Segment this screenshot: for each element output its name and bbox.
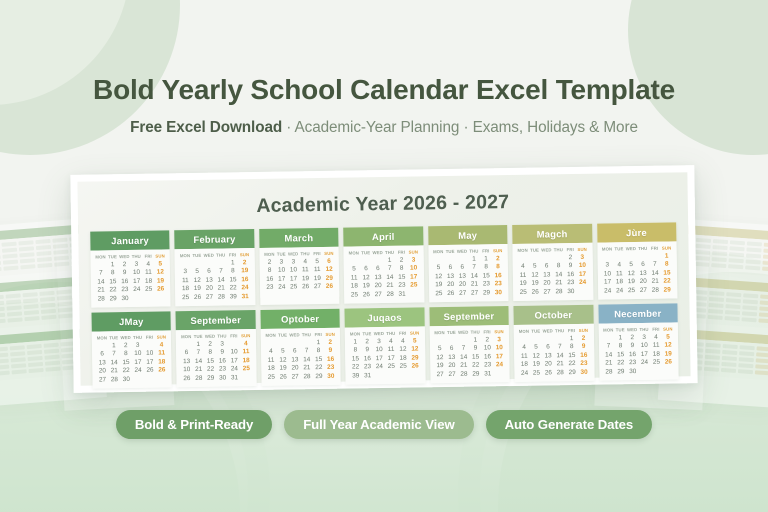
day-cell[interactable]: 1 bbox=[312, 338, 324, 345]
day-cell[interactable]: 9 bbox=[361, 346, 373, 353]
day-cell[interactable]: 29 bbox=[107, 295, 119, 302]
day-cell[interactable]: 13 bbox=[637, 269, 649, 276]
day-cell[interactable]: 6 bbox=[446, 345, 458, 352]
day-cell[interactable]: 4 bbox=[385, 337, 397, 344]
day-cell[interactable]: 14 bbox=[468, 272, 480, 279]
day-cell[interactable]: 2 bbox=[396, 256, 408, 263]
day-cell[interactable]: 3 bbox=[638, 333, 650, 340]
day-cell[interactable]: 23 bbox=[325, 364, 337, 371]
day-cell[interactable]: 26 bbox=[277, 373, 289, 380]
day-cell[interactable]: 4 bbox=[265, 348, 277, 355]
day-cell[interactable]: 15 bbox=[566, 351, 578, 358]
day-cell[interactable]: 3 bbox=[287, 258, 299, 265]
day-cell[interactable]: 30 bbox=[578, 368, 590, 375]
day-cell[interactable]: 10 bbox=[132, 350, 144, 357]
day-cell[interactable]: 20 bbox=[542, 360, 554, 367]
day-cell[interactable]: 18 bbox=[179, 285, 191, 292]
day-cell[interactable]: 24 bbox=[639, 359, 651, 366]
day-cell[interactable]: 29 bbox=[566, 368, 578, 375]
day-cell[interactable]: 5 bbox=[409, 337, 421, 344]
day-cell[interactable]: 28 bbox=[384, 290, 396, 297]
day-cell[interactable]: 13 bbox=[541, 271, 553, 278]
day-cell[interactable]: 28 bbox=[193, 374, 205, 381]
day-cell[interactable]: 11 bbox=[517, 271, 529, 278]
day-cell[interactable]: 8 bbox=[492, 263, 504, 270]
day-cell[interactable]: 15 bbox=[615, 351, 627, 358]
day-cell[interactable]: 3 bbox=[373, 337, 385, 344]
day-cell[interactable]: 7 bbox=[95, 269, 107, 276]
day-cell[interactable]: 39 bbox=[350, 372, 362, 379]
day-cell[interactable]: 31 bbox=[396, 290, 408, 297]
day-cell[interactable]: 22 bbox=[350, 363, 362, 370]
day-cell[interactable]: 14 bbox=[554, 352, 566, 359]
day-cell[interactable]: 26 bbox=[662, 358, 674, 365]
day-cell[interactable]: 13 bbox=[542, 352, 554, 359]
day-cell[interactable]: 4 bbox=[613, 261, 625, 268]
day-cell[interactable]: 17 bbox=[385, 354, 397, 361]
day-cell[interactable]: 23 bbox=[627, 359, 639, 366]
day-cell[interactable]: 1 bbox=[108, 342, 120, 349]
day-cell[interactable]: 10 bbox=[601, 270, 613, 277]
day-cell[interactable]: 21 bbox=[193, 366, 205, 373]
day-cell[interactable]: 27 bbox=[372, 290, 384, 297]
day-cell[interactable]: 23 bbox=[264, 284, 276, 291]
day-cell[interactable]: 14 bbox=[108, 359, 120, 366]
day-cell[interactable]: 1 bbox=[566, 334, 578, 341]
day-cell[interactable]: 25 bbox=[348, 291, 360, 298]
day-cell[interactable]: 23 bbox=[119, 286, 131, 293]
day-cell[interactable]: 19 bbox=[360, 282, 372, 289]
day-cell[interactable]: 11 bbox=[650, 342, 662, 349]
day-cell[interactable]: 14 bbox=[553, 271, 565, 278]
month-card[interactable]: OctoberMONTUEWEDTHUFRISUN124567891112131… bbox=[514, 305, 595, 382]
month-card[interactable]: JuqaosMONTUEWEDTHUFRISUN1234458910111212… bbox=[345, 307, 426, 384]
day-cell[interactable]: 5 bbox=[348, 265, 360, 272]
day-cell[interactable]: 1 bbox=[384, 256, 396, 263]
day-cell[interactable]: 23 bbox=[565, 279, 577, 286]
day-cell[interactable]: 6 bbox=[323, 257, 335, 264]
month-card[interactable]: SeptemberMONTUEWEDTHUFRISUN1235679101012… bbox=[429, 306, 510, 383]
day-cell[interactable]: 8 bbox=[614, 342, 626, 349]
day-cell[interactable]: 12 bbox=[529, 271, 541, 278]
day-cell[interactable]: 21 bbox=[603, 359, 615, 366]
day-cell[interactable]: 27 bbox=[434, 371, 446, 378]
day-cell[interactable]: 8 bbox=[227, 267, 239, 274]
day-cell[interactable]: 10 bbox=[181, 366, 193, 373]
day-cell[interactable]: 5 bbox=[529, 263, 541, 270]
day-cell[interactable]: 16 bbox=[119, 277, 131, 284]
day-cell[interactable]: 12 bbox=[154, 268, 166, 275]
day-cell[interactable]: 25 bbox=[517, 288, 529, 295]
day-cell[interactable]: 20 bbox=[637, 278, 649, 285]
day-cell[interactable]: 28 bbox=[215, 293, 227, 300]
day-cell[interactable]: 19 bbox=[433, 281, 445, 288]
day-cell[interactable]: 30 bbox=[119, 294, 131, 301]
day-cell[interactable]: 11 bbox=[613, 270, 625, 277]
day-cell[interactable]: 29 bbox=[615, 368, 627, 375]
day-cell[interactable]: 1 bbox=[107, 261, 119, 268]
day-cell[interactable]: 27 bbox=[457, 289, 469, 296]
day-cell[interactable]: 3 bbox=[132, 341, 144, 348]
month-card[interactable]: MagchMONTUEWEDTHUFRISUN23456891011121314… bbox=[512, 224, 593, 301]
day-cell[interactable]: 30 bbox=[565, 287, 577, 294]
day-cell[interactable]: 14 bbox=[603, 351, 615, 358]
day-cell[interactable]: 24 bbox=[373, 363, 385, 370]
day-cell[interactable]: 16 bbox=[325, 355, 337, 362]
day-cell[interactable]: 14 bbox=[95, 278, 107, 285]
day-cell[interactable]: 2 bbox=[361, 338, 373, 345]
day-cell[interactable]: 28 bbox=[95, 295, 107, 302]
day-cell[interactable]: 19 bbox=[662, 350, 674, 357]
day-cell[interactable]: 9 bbox=[469, 344, 481, 351]
day-cell[interactable]: 18 bbox=[143, 277, 155, 284]
day-cell[interactable]: 1 bbox=[661, 252, 673, 259]
day-cell[interactable]: 8 bbox=[553, 262, 565, 269]
day-cell[interactable]: 3 bbox=[179, 268, 191, 275]
day-cell[interactable]: 11 bbox=[348, 274, 360, 281]
day-cell[interactable]: 2 bbox=[626, 334, 638, 341]
month-card[interactable]: MarchMONTUEWEDTHUFRISUN23345681010111112… bbox=[259, 228, 340, 305]
day-cell[interactable]: 27 bbox=[637, 286, 649, 293]
feature-badge[interactable]: Bold & Print-Ready bbox=[116, 410, 272, 439]
day-cell[interactable]: 7 bbox=[554, 343, 566, 350]
day-cell[interactable]: 18 bbox=[518, 361, 530, 368]
month-card[interactable]: NecemberMONTUEWEDTHUFRISUN12345789101112… bbox=[598, 303, 679, 380]
day-cell[interactable]: 17 bbox=[288, 275, 300, 282]
day-cell[interactable]: 2 bbox=[120, 341, 132, 348]
day-cell[interactable]: 14 bbox=[384, 273, 396, 280]
day-cell[interactable]: 7 bbox=[649, 261, 661, 268]
day-cell[interactable]: 6 bbox=[289, 347, 301, 354]
day-cell[interactable]: 10 bbox=[131, 269, 143, 276]
day-cell[interactable]: 20 bbox=[541, 279, 553, 286]
day-cell[interactable]: 25 bbox=[433, 290, 445, 297]
day-cell[interactable]: 24 bbox=[276, 284, 288, 291]
day-cell[interactable]: 30 bbox=[325, 372, 337, 379]
day-cell[interactable]: 20 bbox=[446, 362, 458, 369]
day-cell[interactable]: 7 bbox=[603, 342, 615, 349]
day-cell[interactable]: 11 bbox=[179, 277, 191, 284]
day-cell[interactable]: 5 bbox=[662, 333, 674, 340]
day-cell[interactable]: 16 bbox=[481, 353, 493, 360]
day-cell[interactable]: 6 bbox=[542, 343, 554, 350]
day-cell[interactable]: 20 bbox=[203, 285, 215, 292]
day-cell[interactable]: 27 bbox=[96, 376, 108, 383]
day-cell[interactable]: 3 bbox=[576, 253, 588, 260]
day-cell[interactable]: 25 bbox=[288, 283, 300, 290]
day-cell[interactable]: 18 bbox=[348, 282, 360, 289]
day-cell[interactable]: 27 bbox=[289, 373, 301, 380]
month-card[interactable]: AprilMONTUEWEDTHUFRISUN12356678101112131… bbox=[343, 226, 424, 303]
day-cell[interactable]: 30 bbox=[492, 289, 504, 296]
day-cell[interactable]: 30 bbox=[627, 368, 639, 375]
day-cell[interactable]: 30 bbox=[217, 374, 229, 381]
day-cell[interactable]: 15 bbox=[480, 272, 492, 279]
day-cell[interactable]: 18 bbox=[613, 278, 625, 285]
day-cell[interactable]: 16 bbox=[216, 357, 228, 364]
day-cell[interactable]: 12 bbox=[397, 346, 409, 353]
day-cell[interactable]: 14 bbox=[193, 357, 205, 364]
day-cell[interactable]: 14 bbox=[215, 276, 227, 283]
day-cell[interactable]: 27 bbox=[312, 283, 324, 290]
month-card[interactable]: SeptemberMONTUEWEDTHUFRISUN1234678910111… bbox=[176, 310, 257, 387]
day-cell[interactable]: 18 bbox=[156, 358, 168, 365]
day-cell[interactable]: 27 bbox=[446, 370, 458, 377]
day-cell[interactable]: 21 bbox=[384, 282, 396, 289]
day-cell[interactable]: 23 bbox=[361, 363, 373, 370]
feature-badge[interactable]: Auto Generate Dates bbox=[486, 410, 653, 439]
day-cell[interactable]: 1 bbox=[480, 255, 492, 262]
day-cell[interactable]: 13 bbox=[444, 272, 456, 279]
day-cell[interactable]: 2 bbox=[564, 253, 576, 260]
day-cell[interactable]: 14 bbox=[649, 269, 661, 276]
month-card[interactable]: JMayMONTUEWEDTHUFRISUN123467810101113141… bbox=[91, 311, 172, 388]
day-cell[interactable]: 17 bbox=[132, 358, 144, 365]
day-cell[interactable]: 4 bbox=[240, 340, 252, 347]
day-cell[interactable]: 15 bbox=[470, 353, 482, 360]
day-cell[interactable]: 17 bbox=[577, 270, 589, 277]
day-cell[interactable]: 17 bbox=[131, 277, 143, 284]
day-cell[interactable]: 29 bbox=[313, 372, 325, 379]
day-cell[interactable]: 23 bbox=[578, 360, 590, 367]
day-cell[interactable]: 11 bbox=[311, 266, 323, 273]
day-cell[interactable]: 28 bbox=[649, 286, 661, 293]
day-cell[interactable]: 9 bbox=[578, 343, 590, 350]
day-cell[interactable]: 22 bbox=[615, 359, 627, 366]
day-cell[interactable]: 12 bbox=[409, 345, 421, 352]
day-cell[interactable]: 5 bbox=[625, 261, 637, 268]
day-cell[interactable]: 21 bbox=[649, 278, 661, 285]
day-cell[interactable]: 17 bbox=[602, 278, 614, 285]
day-cell[interactable]: 25 bbox=[143, 286, 155, 293]
day-cell[interactable]: 24 bbox=[577, 279, 589, 286]
day-cell[interactable]: 10 bbox=[144, 350, 156, 357]
day-cell[interactable]: 25 bbox=[180, 294, 192, 301]
day-cell[interactable]: 8 bbox=[120, 350, 132, 357]
day-cell[interactable]: 24 bbox=[494, 361, 506, 368]
day-cell[interactable]: 20 bbox=[457, 281, 469, 288]
day-cell[interactable]: 3 bbox=[130, 260, 142, 267]
day-cell[interactable]: 1 bbox=[468, 255, 480, 262]
day-cell[interactable]: 19 bbox=[434, 362, 446, 369]
day-cell[interactable]: 16 bbox=[239, 276, 251, 283]
day-cell[interactable]: 21 bbox=[468, 280, 480, 287]
day-cell[interactable]: 2 bbox=[204, 340, 216, 347]
day-cell[interactable]: 24 bbox=[602, 287, 614, 294]
day-cell[interactable]: 25 bbox=[385, 363, 397, 370]
day-cell[interactable]: 6 bbox=[444, 264, 456, 271]
day-cell[interactable]: 29 bbox=[470, 370, 482, 377]
day-cell[interactable]: 26 bbox=[360, 291, 372, 298]
day-cell[interactable]: 16 bbox=[361, 355, 373, 362]
day-cell[interactable]: 7 bbox=[384, 265, 396, 272]
day-cell[interactable]: 22 bbox=[470, 361, 482, 368]
day-cell[interactable]: 23 bbox=[396, 282, 408, 289]
day-cell[interactable]: 12 bbox=[662, 341, 674, 348]
day-cell[interactable]: 21 bbox=[458, 362, 470, 369]
day-cell[interactable]: 10 bbox=[576, 262, 588, 269]
day-cell[interactable]: 3 bbox=[275, 258, 287, 265]
day-cell[interactable]: 6 bbox=[203, 268, 215, 275]
month-card[interactable]: FebruaryMONTUEWEDTHUFRISUN12356781911121… bbox=[175, 229, 256, 306]
day-cell[interactable]: 8 bbox=[204, 349, 216, 356]
feature-badge[interactable]: Full Year Academic View bbox=[284, 410, 473, 439]
day-cell[interactable]: 16 bbox=[264, 275, 276, 282]
day-cell[interactable]: 17 bbox=[493, 353, 505, 360]
day-cell[interactable]: 12 bbox=[434, 354, 446, 361]
day-cell[interactable]: 11 bbox=[385, 346, 397, 353]
day-cell[interactable]: 10 bbox=[493, 344, 505, 351]
day-cell[interactable]: 29 bbox=[205, 374, 217, 381]
day-cell[interactable]: 9 bbox=[324, 347, 336, 354]
day-cell[interactable]: 11 bbox=[265, 356, 277, 363]
day-cell[interactable]: 28 bbox=[301, 373, 313, 380]
day-cell[interactable]: 26 bbox=[529, 288, 541, 295]
day-cell[interactable]: 26 bbox=[181, 375, 193, 382]
day-cell[interactable]: 25 bbox=[408, 281, 420, 288]
day-cell[interactable]: 19 bbox=[239, 267, 251, 274]
day-cell[interactable]: 29 bbox=[480, 289, 492, 296]
day-cell[interactable]: 16 bbox=[578, 351, 590, 358]
day-cell[interactable]: 20 bbox=[445, 281, 457, 288]
day-cell[interactable]: 19 bbox=[530, 361, 542, 368]
day-cell[interactable]: 4 bbox=[299, 258, 311, 265]
day-cell[interactable]: 14 bbox=[301, 356, 313, 363]
day-cell[interactable]: 15 bbox=[396, 273, 408, 280]
day-cell[interactable]: 21 bbox=[301, 364, 313, 371]
day-cell[interactable]: 8 bbox=[480, 263, 492, 270]
day-cell[interactable]: 6 bbox=[360, 265, 372, 272]
day-cell[interactable]: 17 bbox=[228, 357, 240, 364]
day-cell[interactable]: 12 bbox=[530, 352, 542, 359]
day-cell[interactable]: 9 bbox=[216, 348, 228, 355]
day-cell[interactable]: 28 bbox=[553, 288, 565, 295]
day-cell[interactable]: 25 bbox=[265, 373, 277, 380]
day-cell[interactable]: 13 bbox=[181, 358, 193, 365]
day-cell[interactable]: 30 bbox=[120, 375, 132, 382]
day-cell[interactable]: 7 bbox=[458, 345, 470, 352]
day-cell[interactable]: 29 bbox=[323, 274, 335, 281]
day-cell[interactable]: 15 bbox=[313, 355, 325, 362]
day-cell[interactable]: 28 bbox=[458, 370, 470, 377]
day-cell[interactable]: 20 bbox=[289, 364, 301, 371]
day-cell[interactable]: 1 bbox=[469, 336, 481, 343]
day-cell[interactable]: 31 bbox=[239, 293, 251, 300]
day-cell[interactable]: 11 bbox=[518, 352, 530, 359]
day-cell[interactable]: 28 bbox=[603, 368, 615, 375]
day-cell[interactable]: 13 bbox=[446, 353, 458, 360]
day-cell[interactable]: 15 bbox=[661, 269, 673, 276]
day-cell[interactable]: 17 bbox=[638, 350, 650, 357]
day-cell[interactable]: 18 bbox=[240, 357, 252, 364]
day-cell[interactable]: 13 bbox=[96, 359, 108, 366]
day-cell[interactable]: 2 bbox=[324, 338, 336, 345]
day-cell[interactable]: 15 bbox=[107, 278, 119, 285]
day-cell[interactable]: 19 bbox=[191, 285, 203, 292]
day-cell[interactable]: 39 bbox=[227, 293, 239, 300]
day-cell[interactable]: 26 bbox=[323, 283, 335, 290]
day-cell[interactable]: 19 bbox=[517, 280, 529, 287]
day-cell[interactable]: 3 bbox=[407, 256, 419, 263]
day-cell[interactable]: 17 bbox=[373, 354, 385, 361]
day-cell[interactable]: 25 bbox=[397, 363, 409, 370]
day-cell[interactable]: 2 bbox=[118, 260, 130, 267]
month-card[interactable]: MayMONTUEWEDTHUFRISUN1125667881213131415… bbox=[428, 225, 509, 302]
day-cell[interactable]: 10 bbox=[373, 346, 385, 353]
day-cell[interactable]: 19 bbox=[277, 365, 289, 372]
day-cell[interactable]: 12 bbox=[191, 276, 203, 283]
day-cell[interactable]: 25 bbox=[650, 359, 662, 366]
day-cell[interactable]: 4 bbox=[517, 263, 529, 270]
day-cell[interactable]: 27 bbox=[203, 293, 215, 300]
day-cell[interactable]: 26 bbox=[300, 283, 312, 290]
day-cell[interactable]: 26 bbox=[445, 289, 457, 296]
day-cell[interactable]: 26 bbox=[155, 285, 167, 292]
day-cell[interactable]: 26 bbox=[409, 362, 421, 369]
day-cell[interactable]: 25 bbox=[625, 287, 637, 294]
day-cell[interactable]: 2 bbox=[492, 255, 504, 262]
day-cell[interactable]: 23 bbox=[480, 280, 492, 287]
day-cell[interactable]: 6 bbox=[541, 262, 553, 269]
day-cell[interactable]: 19 bbox=[154, 277, 166, 284]
month-card[interactable]: JanuaryMONTUEWEDTHUFRISUN123457891011121… bbox=[90, 230, 171, 307]
day-cell[interactable]: 18 bbox=[397, 354, 409, 361]
day-cell[interactable]: 22 bbox=[107, 286, 119, 293]
day-cell[interactable]: 19 bbox=[625, 278, 637, 285]
day-cell[interactable]: 18 bbox=[650, 350, 662, 357]
day-cell[interactable]: 22 bbox=[566, 360, 578, 367]
day-cell[interactable]: 11 bbox=[156, 349, 168, 356]
day-cell[interactable]: 15 bbox=[120, 358, 132, 365]
day-cell[interactable]: 10 bbox=[276, 267, 288, 274]
day-cell[interactable]: 31 bbox=[362, 372, 374, 379]
day-cell[interactable]: 17 bbox=[408, 273, 420, 280]
day-cell[interactable]: 21 bbox=[554, 360, 566, 367]
day-cell[interactable]: 22 bbox=[313, 364, 325, 371]
day-cell[interactable]: 11 bbox=[299, 266, 311, 273]
day-cell[interactable]: 21 bbox=[215, 284, 227, 291]
day-cell[interactable]: 13 bbox=[203, 276, 215, 283]
day-cell[interactable]: 2 bbox=[481, 336, 493, 343]
day-cell[interactable]: 27 bbox=[541, 288, 553, 295]
day-cell[interactable]: 5 bbox=[434, 345, 446, 352]
day-cell[interactable]: 5 bbox=[530, 344, 542, 351]
day-cell[interactable]: 1 bbox=[349, 338, 361, 345]
day-cell[interactable]: 20 bbox=[96, 367, 108, 374]
month-card[interactable]: JùreMONTUEWEDTHUFRISUN134567810111213141… bbox=[597, 222, 678, 299]
day-cell[interactable]: 8 bbox=[566, 343, 578, 350]
day-cell[interactable]: 12 bbox=[360, 274, 372, 281]
day-cell[interactable]: 15 bbox=[349, 355, 361, 362]
day-cell[interactable]: 8 bbox=[264, 267, 276, 274]
day-cell[interactable]: 10 bbox=[287, 266, 299, 273]
day-cell[interactable]: 19 bbox=[529, 280, 541, 287]
day-cell[interactable]: 5 bbox=[311, 257, 323, 264]
day-cell[interactable]: 15 bbox=[227, 276, 239, 283]
day-cell[interactable]: 6 bbox=[180, 349, 192, 356]
day-cell[interactable]: 26 bbox=[192, 293, 204, 300]
day-cell[interactable]: 10 bbox=[228, 348, 240, 355]
day-cell[interactable]: 12 bbox=[323, 266, 335, 273]
day-cell[interactable]: 22 bbox=[120, 367, 132, 374]
day-cell[interactable]: 7 bbox=[192, 349, 204, 356]
day-cell[interactable]: 6 bbox=[96, 350, 108, 357]
day-cell[interactable]: 8 bbox=[313, 347, 325, 354]
month-card[interactable]: OptoberMONTUEWEDTHUFRISUN124567891112131… bbox=[260, 309, 341, 386]
day-cell[interactable]: 24 bbox=[132, 367, 144, 374]
day-cell[interactable]: 28 bbox=[108, 376, 120, 383]
day-cell[interactable]: 29 bbox=[661, 286, 673, 293]
